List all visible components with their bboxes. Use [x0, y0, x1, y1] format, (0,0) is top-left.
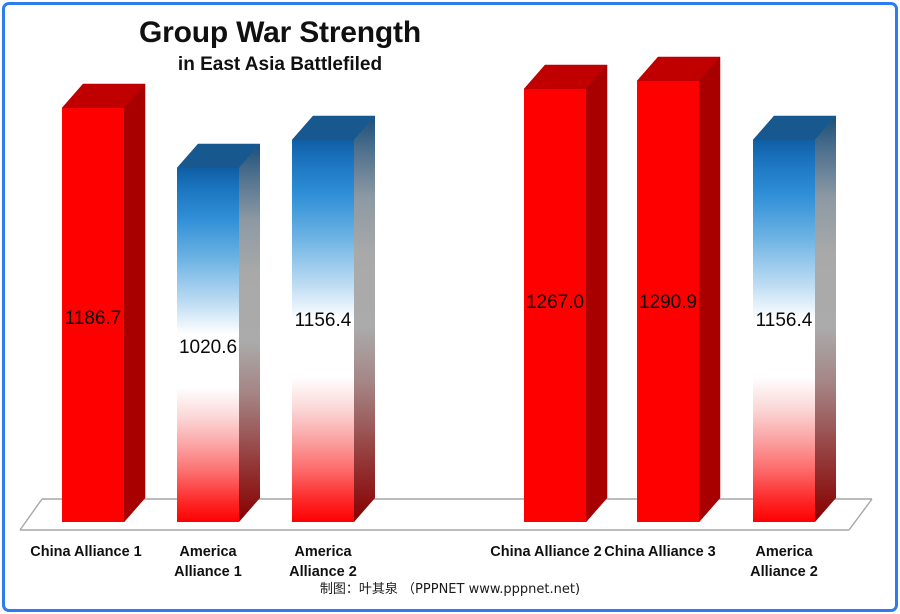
bar-value-america-alliance-2-left: 1156.4	[282, 310, 364, 332]
bar-side-face-shape	[699, 57, 723, 522]
credit-text: 制图：叶其泉 （PPPNET www.pppnet.net)	[0, 578, 900, 597]
bar-category-line: America	[708, 542, 860, 562]
plot-area: 1186.7 China Alliance 1	[0, 0, 900, 614]
bar-value-china-alliance-3: 1290.9	[627, 292, 709, 314]
bar-category-america-alliance-2-left: America Alliance 2	[247, 542, 399, 582]
bar-side-face-shape	[124, 84, 148, 522]
floor-right-edge	[849, 499, 872, 530]
bar-value-china-alliance-1: 1186.7	[52, 308, 134, 330]
bar-category-america-alliance-2-right: America Alliance 2	[708, 542, 860, 582]
bar-side-face-shape	[239, 144, 263, 522]
bar-category-line: America	[247, 542, 399, 562]
chart-subtitle: in East Asia Battlefiled	[0, 52, 560, 78]
bar-value-america-alliance-2-right: 1156.4	[743, 310, 825, 332]
chart-container: 1186.7 China Alliance 1	[0, 0, 900, 614]
floor-left-edge	[20, 499, 42, 530]
chart-title: Group War Strength	[0, 14, 560, 52]
title-block: Group War Strength in East Asia Battlefi…	[0, 14, 560, 78]
bar-value-china-alliance-2: 1267.0	[514, 292, 596, 314]
bar-value-america-alliance-1: 1020.6	[167, 337, 249, 359]
